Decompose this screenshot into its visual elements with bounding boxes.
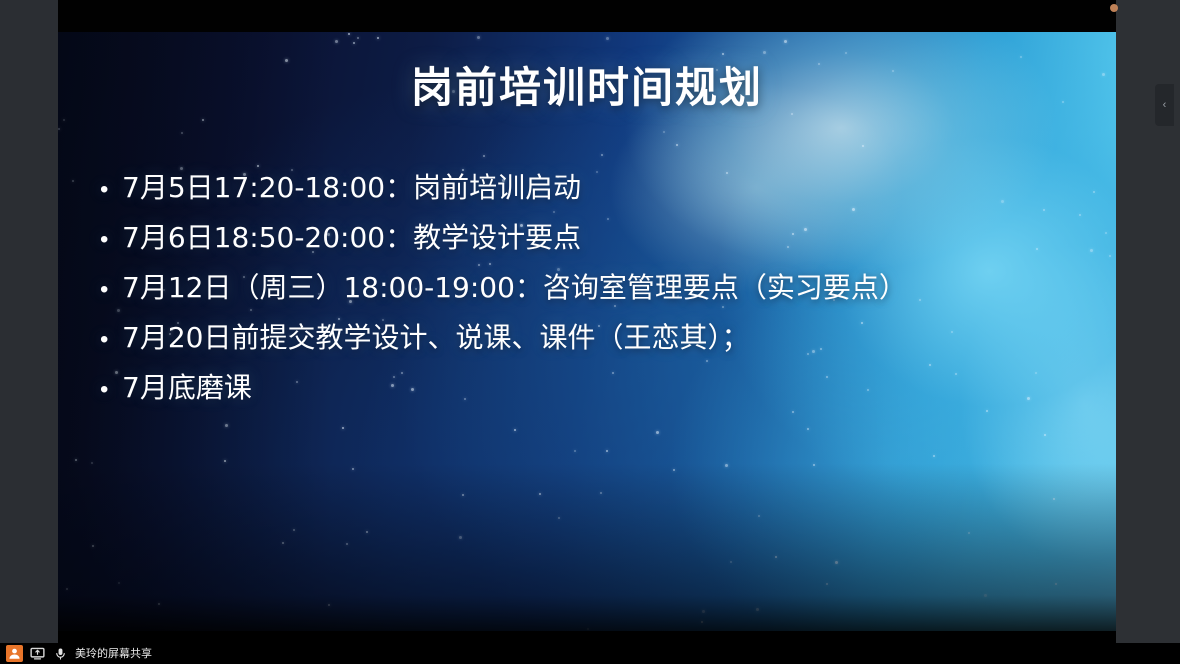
list-item-label: 7月底磨课 (122, 370, 252, 407)
slide-content: 岗前培训时间规划 • 7月5日17:20-18:00：岗前培训启动 • 7月6日… (58, 32, 1116, 631)
status-dot (1110, 4, 1118, 12)
list-item: • 7月12日（周三）18:00-19:00：咨询室管理要点（实习要点） (100, 270, 1106, 307)
list-item-label: 7月12日（周三）18:00-19:00：咨询室管理要点（实习要点） (122, 270, 907, 307)
list-item-label: 7月5日17:20-18:00：岗前培训启动 (122, 170, 581, 207)
top-right-chrome-panel (1116, 0, 1180, 32)
bullet-dot-icon: • (100, 278, 122, 302)
bullet-dot-icon: • (100, 378, 122, 402)
list-item: • 7月5日17:20-18:00：岗前培训启动 (100, 170, 1106, 207)
chevron-left-icon[interactable]: ‹ (1155, 84, 1174, 126)
list-item-label: 7月6日18:50-20:00：教学设计要点 (122, 220, 581, 257)
bullet-dot-icon: • (100, 178, 122, 202)
slide-title: 岗前培训时间规划 (58, 54, 1116, 115)
list-item: • 7月20日前提交教学设计、说课、课件（王恋其）； (100, 320, 1106, 357)
left-chrome-panel (0, 0, 58, 643)
top-letterbox-bar (58, 0, 1116, 32)
screen-share-viewer: ‹ 岗前培训时间规划 • 7月5日17:20-18:00：岗前培训启动 • 7月… (0, 0, 1180, 664)
meeting-status-bar: 美玲的屏幕共享 (0, 643, 1180, 664)
participant-icon[interactable] (6, 645, 23, 662)
bullet-dot-icon: • (100, 228, 122, 252)
shared-screen-slide: 岗前培训时间规划 • 7月5日17:20-18:00：岗前培训启动 • 7月6日… (58, 32, 1116, 631)
list-item-label: 7月20日前提交教学设计、说课、课件（王恋其）； (122, 320, 749, 357)
screen-share-icon[interactable] (29, 645, 46, 662)
list-item: • 7月底磨课 (100, 370, 1106, 407)
slide-bullet-list: • 7月5日17:20-18:00：岗前培训启动 • 7月6日18:50-20:… (100, 170, 1106, 420)
list-item: • 7月6日18:50-20:00：教学设计要点 (100, 220, 1106, 257)
bullet-dot-icon: • (100, 328, 122, 352)
screen-share-status-label: 美玲的屏幕共享 (75, 648, 152, 659)
microphone-icon[interactable] (52, 645, 69, 662)
